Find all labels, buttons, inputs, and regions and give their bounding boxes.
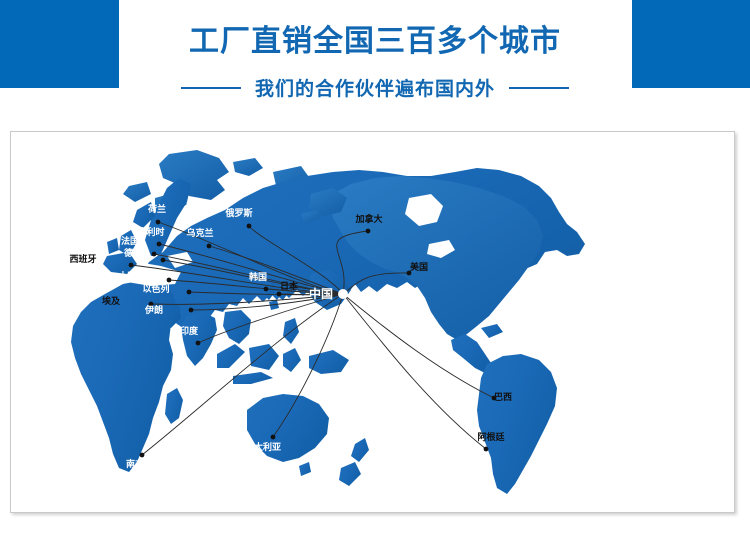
label-ukraine: 乌克兰 [186, 227, 213, 239]
node-turkey[interactable] [167, 278, 172, 283]
tasmania-shape [299, 462, 311, 476]
node-germany[interactable] [161, 258, 166, 263]
node-canada[interactable] [366, 229, 371, 234]
south-america-shape [477, 354, 557, 494]
arctic-island-a [233, 158, 263, 176]
promo-banner-page: 工厂直销全国三百多个城市 我们的合作伙伴遍布国内外 [0, 0, 750, 543]
world-map-svg: 荷兰 比利时 法国 德国 西班牙 土耳其 以色列 埃及 伊朗 乌克兰 俄罗斯 韩… [11, 132, 734, 512]
label-argentina: 阿根廷 [477, 431, 505, 443]
node-argentina[interactable] [484, 447, 489, 452]
subtitle-rule-right [509, 87, 569, 89]
ireland-shape [107, 238, 119, 254]
new-zealand-shape [351, 438, 369, 462]
node-spain[interactable] [129, 263, 134, 268]
node-korea[interactable] [264, 287, 269, 292]
label-india: 印度 [180, 325, 199, 337]
label-australia: 澳大利亚 [245, 441, 281, 453]
node-south-africa[interactable] [140, 453, 145, 458]
caribbean-shape [481, 324, 503, 338]
label-canada: 加拿大 [354, 213, 382, 225]
subtitle-rule-left [181, 87, 241, 89]
label-korea: 韩国 [249, 271, 267, 283]
node-russia[interactable] [247, 224, 252, 229]
sumatra-shape [217, 344, 245, 368]
label-egypt: 埃及 [102, 295, 121, 307]
page-subtitle: 我们的合作伙伴遍布国内外 [255, 74, 495, 101]
label-china-hub: 中国 [309, 286, 333, 301]
label-spain: 西班牙 [69, 253, 96, 265]
node-japan[interactable] [277, 292, 282, 297]
label-belgium: 比利时 [137, 226, 164, 238]
node-belgium[interactable] [157, 242, 162, 247]
world-map-frame: 荷兰 比利时 法国 德国 西班牙 土耳其 以色列 埃及 伊朗 乌克兰 俄罗斯 韩… [10, 131, 735, 513]
label-netherlands: 荷兰 [147, 203, 166, 215]
node-netherlands[interactable] [156, 220, 161, 225]
arctic-island-b [123, 182, 151, 202]
label-japan: 日本 [280, 280, 299, 292]
label-brazil: 巴西 [494, 392, 512, 403]
new-guinea-shape [309, 350, 349, 374]
node-australia[interactable] [271, 435, 276, 440]
label-germany: 德国 [124, 247, 142, 259]
new-zealand-south-shape [339, 462, 361, 486]
node-israel[interactable] [187, 290, 192, 295]
label-israel: 以色列 [142, 283, 169, 295]
page-title: 工厂直销全国三百多个城市 [0, 24, 750, 60]
label-iran: 伊朗 [144, 304, 163, 316]
node-india[interactable] [196, 341, 201, 346]
borneo-shape [249, 344, 279, 370]
node-ukraine[interactable] [207, 244, 212, 249]
label-south-africa: 南非 [126, 458, 144, 470]
node-iran[interactable] [189, 308, 194, 313]
landmasses [71, 150, 585, 494]
node-france[interactable] [152, 252, 157, 257]
node-china-hub[interactable] [339, 290, 348, 299]
label-france: 法国 [121, 235, 139, 247]
indochina-shape [223, 310, 251, 344]
madagascar-shape [165, 388, 183, 424]
label-usa: 美国 [410, 261, 428, 273]
label-russia: 俄罗斯 [224, 207, 252, 219]
label-turkey: 土耳其 [118, 270, 145, 282]
header-banner: 工厂直销全国三百多个城市 我们的合作伙伴遍布国内外 [0, 0, 750, 115]
sulawesi-shape [283, 348, 301, 372]
india-shape [181, 312, 217, 366]
subtitle-row: 我们的合作伙伴遍布国内外 [0, 74, 750, 101]
